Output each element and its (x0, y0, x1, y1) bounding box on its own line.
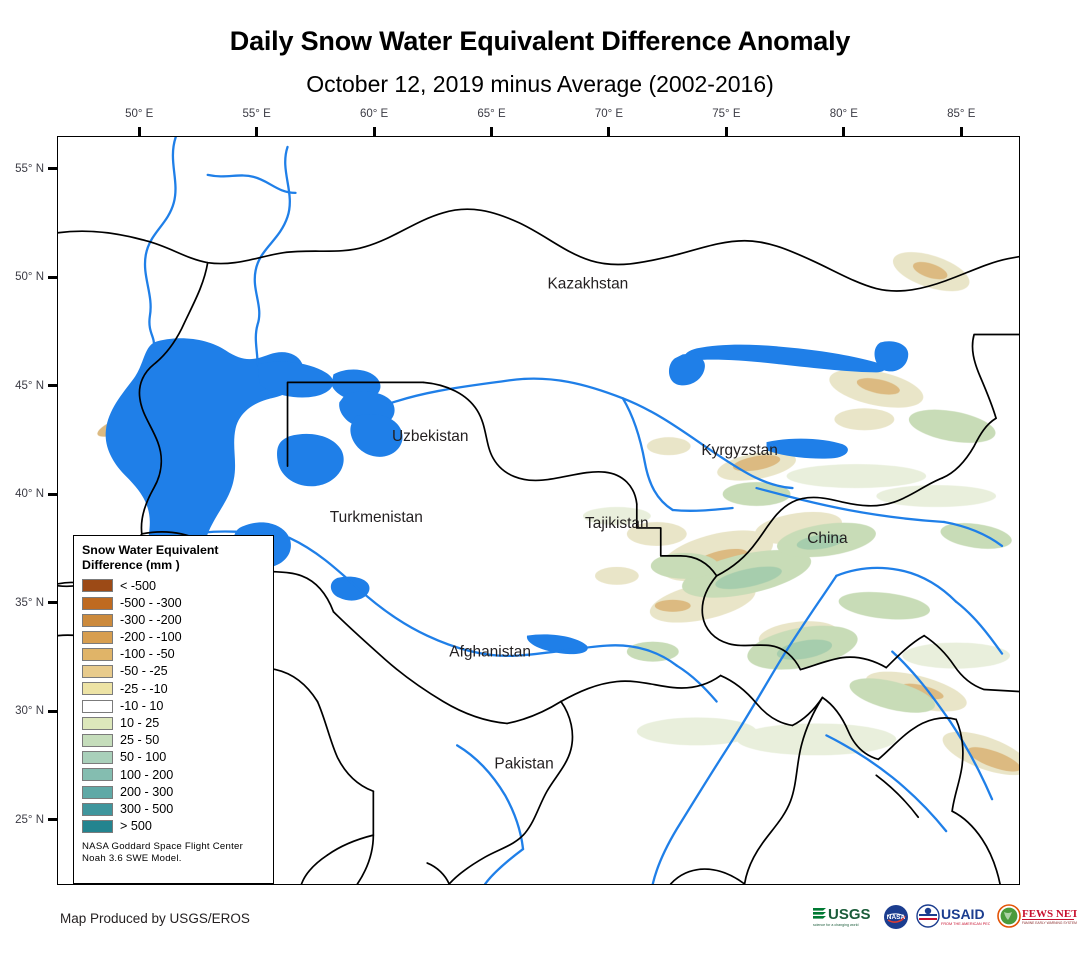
latitude-tick (48, 167, 57, 170)
latitude-tick (48, 710, 57, 713)
latitude-tick (48, 493, 57, 496)
legend-color-swatch (82, 682, 113, 695)
legend-entry[interactable]: 300 - 500 (82, 801, 265, 818)
latitude-tick (48, 818, 57, 821)
legend-entry-list: < -500-500 - -300-300 - -200-200 - -100-… (82, 577, 265, 835)
latitude-tick (48, 276, 57, 279)
country-label: Kazakhstan (548, 276, 629, 293)
legend-entry-label: > 500 (120, 820, 152, 833)
nasa-logo: NASA (883, 904, 909, 930)
longitude-tick (255, 127, 258, 136)
legend-color-swatch (82, 717, 113, 730)
country-label: Afghanistan (449, 644, 531, 661)
svg-text:FEWS NET: FEWS NET (1022, 908, 1077, 920)
latitude-tick-label: 50° N (15, 271, 44, 283)
map-credit: Map Produced by USGS/EROS (60, 911, 250, 926)
legend-entry-label: < -500 (120, 580, 156, 593)
longitude-tick-label: 85° E (947, 108, 975, 120)
legend-entry[interactable]: < -500 (82, 577, 265, 594)
longitude-tick (725, 127, 728, 136)
legend-entry[interactable]: > 500 (82, 818, 265, 835)
legend-color-swatch (82, 579, 113, 592)
country-label: Kyrgyzstan (701, 442, 777, 459)
latitude-tick-label: 35° N (15, 597, 44, 609)
logo-bar: USGS science for a changing world NASA U… (812, 903, 1077, 931)
legend-color-swatch (82, 631, 113, 644)
country-label: Pakistan (494, 755, 553, 772)
country-label: Turkmenistan (330, 509, 423, 526)
legend-source-line1: NASA Goddard Space Flight Center (82, 841, 265, 853)
fewsnet-logo: FEWS NET FAMINE EARLY WARNING SYSTEMS NE… (997, 904, 1077, 930)
legend-entry[interactable]: -10 - 10 (82, 698, 265, 715)
legend-source-line2: Noah 3.6 SWE Model. (82, 853, 265, 865)
longitude-tick (138, 127, 141, 136)
svg-text:FROM THE AMERICAN PEOPLE: FROM THE AMERICAN PEOPLE (941, 922, 990, 926)
title-block: Daily Snow Water Equivalent Difference A… (0, 0, 1080, 98)
latitude-tick-label: 45° N (15, 380, 44, 392)
longitude-tick-label: 80° E (830, 108, 858, 120)
legend-entry[interactable]: -300 - -200 (82, 612, 265, 629)
legend-entry[interactable]: 200 - 300 (82, 784, 265, 801)
legend-color-swatch (82, 803, 113, 816)
svg-text:USGS: USGS (828, 906, 871, 923)
legend-panel[interactable]: Snow Water Equivalent Difference (mm ) <… (73, 535, 274, 884)
legend-entry-label: -100 - -50 (120, 648, 175, 661)
legend-entry-label: 50 - 100 (120, 751, 166, 764)
longitude-tick (842, 127, 845, 136)
legend-entry[interactable]: -200 - -100 (82, 629, 265, 646)
legend-color-swatch (82, 768, 113, 781)
legend-entry-label: 100 - 200 (120, 769, 173, 782)
legend-source-note: NASA Goddard Space Flight Center Noah 3.… (82, 841, 265, 866)
latitude-tick-label: 55° N (15, 163, 44, 175)
usaid-logo: USAID FROM THE AMERICAN PEOPLE (916, 904, 990, 930)
legend-color-swatch (82, 700, 113, 713)
legend-entry-label: -25 - -10 (120, 683, 168, 696)
legend-entry[interactable]: 25 - 50 (82, 732, 265, 749)
legend-entry[interactable]: -500 - -300 (82, 594, 265, 611)
longitude-tick (607, 127, 610, 136)
legend-entry[interactable]: -100 - -50 (82, 646, 265, 663)
longitude-tick-label: 55° E (243, 108, 271, 120)
legend-entry[interactable]: -50 - -25 (82, 663, 265, 680)
page-title: Daily Snow Water Equivalent Difference A… (0, 0, 1080, 57)
legend-color-swatch (82, 734, 113, 747)
latitude-tick-label: 25° N (15, 814, 44, 826)
legend-color-swatch (82, 614, 113, 627)
svg-text:science for a changing world: science for a changing world (813, 923, 859, 927)
legend-title-line1: Snow Water Equivalent (82, 543, 265, 558)
longitude-tick (960, 127, 963, 136)
legend-entry[interactable]: 50 - 100 (82, 749, 265, 766)
country-label: Tajikistan (585, 515, 649, 532)
latitude-tick (48, 601, 57, 604)
legend-title: Snow Water Equivalent Difference (mm ) (82, 543, 265, 573)
legend-entry-label: -200 - -100 (120, 631, 182, 644)
legend-entry[interactable]: 10 - 25 (82, 715, 265, 732)
longitude-tick-label: 60° E (360, 108, 388, 120)
svg-text:NASA: NASA (887, 914, 906, 921)
longitude-tick-label: 75° E (712, 108, 740, 120)
page-subtitle: October 12, 2019 minus Average (2002-201… (0, 57, 1080, 98)
legend-entry-label: -50 - -25 (120, 665, 168, 678)
legend-entry-label: -10 - 10 (120, 700, 163, 713)
legend-entry-label: 10 - 25 (120, 717, 159, 730)
legend-entry-label: -300 - -200 (120, 614, 182, 627)
longitude-tick-label: 70° E (595, 108, 623, 120)
usgs-logo: USGS science for a changing world (812, 904, 876, 930)
latitude-tick-label: 40° N (15, 488, 44, 500)
svg-text:FAMINE EARLY WARNING SYSTEMS N: FAMINE EARLY WARNING SYSTEMS NETWORK (1022, 921, 1077, 925)
country-label: Uzbekistan (392, 428, 468, 445)
legend-entry-label: 25 - 50 (120, 734, 159, 747)
legend-entry-label: -500 - -300 (120, 597, 182, 610)
latitude-tick (48, 384, 57, 387)
legend-title-line2: Difference (mm ) (82, 558, 265, 573)
legend-color-swatch (82, 751, 113, 764)
country-label: China (807, 530, 848, 547)
longitude-tick-label: 65° E (477, 108, 505, 120)
longitude-tick-label: 50° E (125, 108, 153, 120)
svg-text:USAID: USAID (941, 906, 985, 922)
legend-color-swatch (82, 665, 113, 678)
longitude-tick (490, 127, 493, 136)
legend-entry[interactable]: 100 - 200 (82, 766, 265, 783)
longitude-tick (373, 127, 376, 136)
legend-entry-label: 300 - 500 (120, 803, 173, 816)
legend-color-swatch (82, 597, 113, 610)
legend-entry[interactable]: -25 - -10 (82, 680, 265, 697)
legend-entry-label: 200 - 300 (120, 786, 173, 799)
legend-color-swatch (82, 820, 113, 833)
legend-color-swatch (82, 786, 113, 799)
latitude-tick-label: 30° N (15, 705, 44, 717)
legend-color-swatch (82, 648, 113, 661)
